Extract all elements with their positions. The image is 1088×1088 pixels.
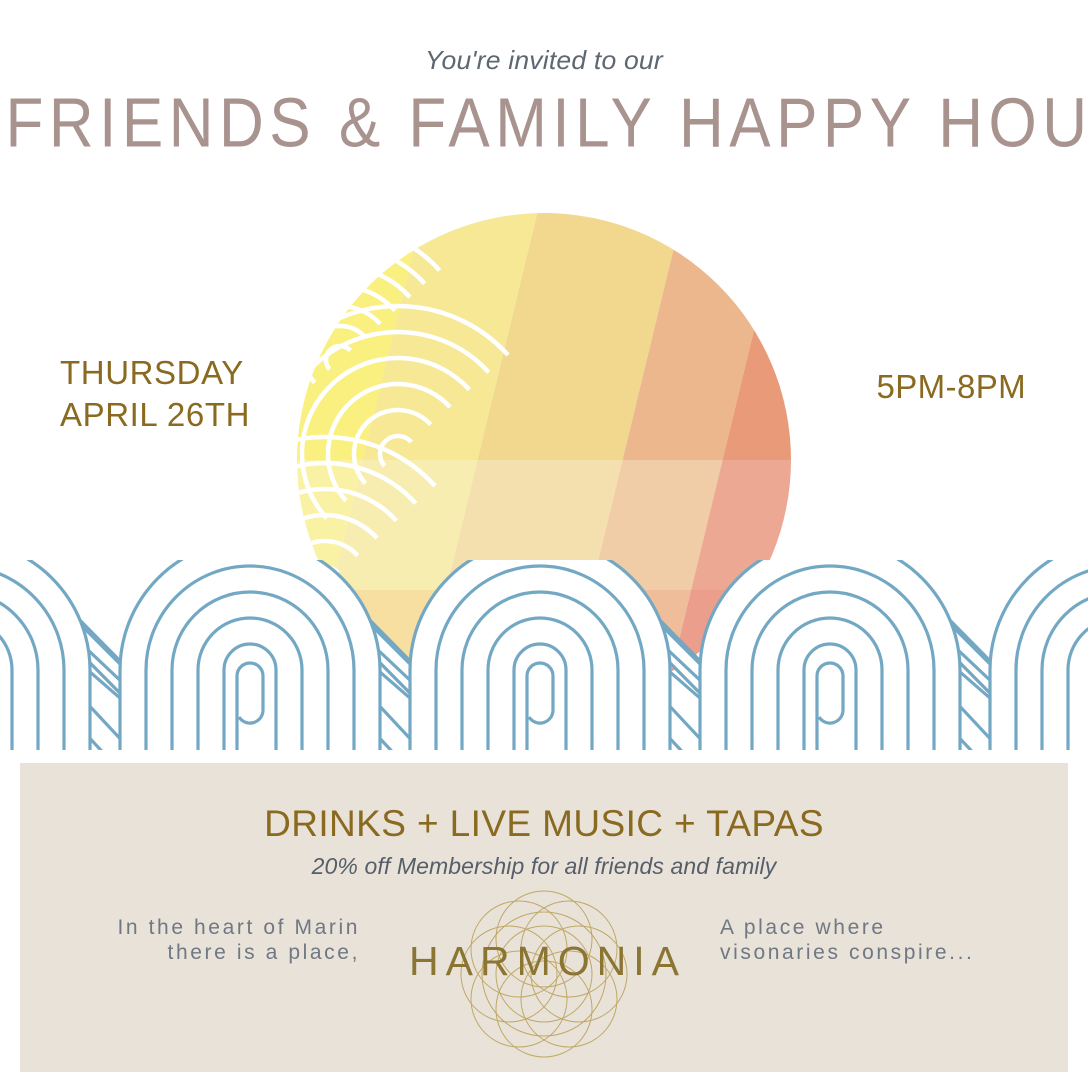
tagline-right: A place where visonaries conspire...: [720, 915, 1050, 965]
offer-subtext: 20% off Membership for all friends and f…: [20, 855, 1068, 878]
eyebrow-text: You're invited to our: [0, 47, 1088, 73]
offer-headline: DRINKS + LIVE MUSIC + TAPAS: [20, 805, 1068, 842]
event-time: 5PM-8PM: [877, 366, 1027, 408]
invitation-poster: You're invited to our FRIENDS & FAMILY H…: [0, 0, 1088, 1088]
tagline-left: In the heart of Marin there is a place,: [30, 915, 360, 965]
brand-row: In the heart of Marin there is a place,: [20, 903, 1068, 1053]
event-date-weekday: THURSDAY: [60, 352, 250, 394]
header: You're invited to our FRIENDS & FAMILY H…: [0, 0, 1088, 152]
event-date-day: APRIL 26TH: [60, 394, 250, 436]
tagline-left-line2: there is a place,: [30, 940, 360, 965]
offer-block: DRINKS + LIVE MUSIC + TAPAS 20% off Memb…: [20, 763, 1068, 878]
tagline-right-line1: A place where: [720, 915, 1050, 940]
event-time-range: 5PM-8PM: [877, 366, 1027, 408]
logo-wordmark: HARMONIA: [334, 941, 754, 982]
details-panel: DRINKS + LIVE MUSIC + TAPAS 20% off Memb…: [20, 763, 1068, 1072]
harmonia-logo: HARMONIA: [334, 879, 754, 1069]
tagline-left-line1: In the heart of Marin: [30, 915, 360, 940]
wave-pattern: [0, 560, 1088, 760]
page-title: FRIENDS & FAMILY HAPPY HOUR: [0, 87, 1088, 160]
event-date: THURSDAY APRIL 26TH: [60, 352, 250, 436]
wave-row-front: [0, 560, 1088, 752]
tagline-right-line2: visonaries conspire...: [720, 940, 1050, 965]
